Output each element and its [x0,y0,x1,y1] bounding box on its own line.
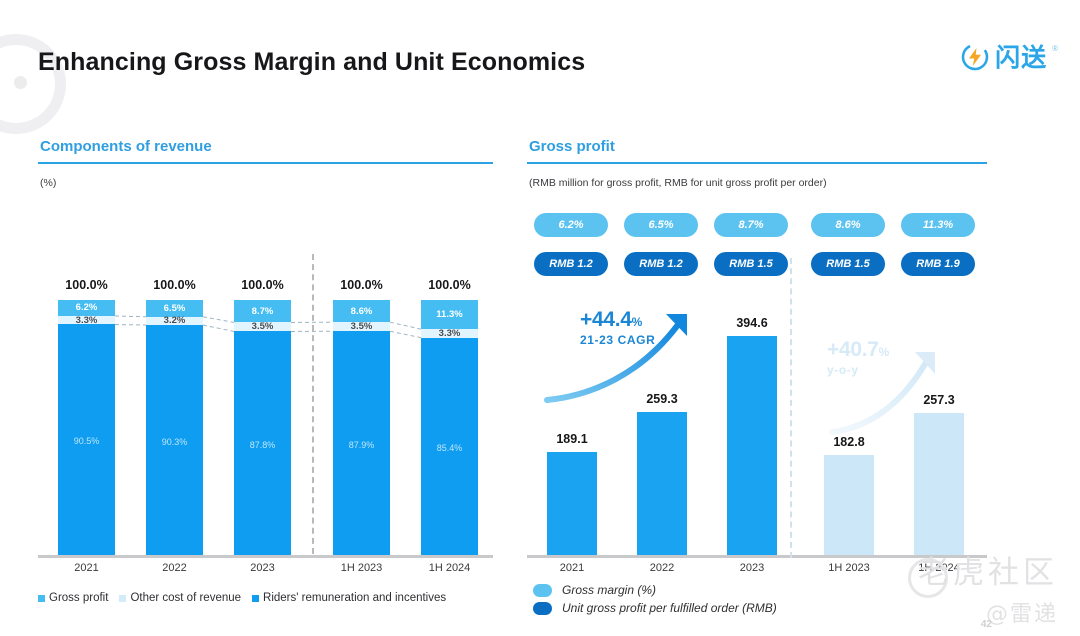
slide: Enhancing Gross Margin and Unit Economic… [0,0,1080,636]
x-axis-tick-label: 1H 2023 [828,562,870,574]
watermark-secondary: @雷递 [986,596,1058,628]
bar-segment-gross-profit: 8.7% [234,300,291,322]
stacked-bar: 100.0%8.7%3.5%87.8% [234,300,291,558]
segment-value-label: 11.3% [436,309,462,320]
bar-segment-riders-remuneration: 90.3% [146,325,203,558]
watermark-primary: 老虎社区 [918,547,1058,592]
x-axis-line [38,555,493,558]
gross-margin-pill: 6.5% [624,213,698,237]
logo-wordmark: 闪送 [995,45,1047,70]
gross-margin-pill: 8.6% [811,213,885,237]
bar-value-label: 257.3 [923,393,954,407]
bar-segment-other-cost-of-revenue: 3.2% [146,317,203,325]
stacked-bar: 100.0%6.5%3.2%90.3% [146,300,203,558]
bar-segment-gross-profit: 11.3% [421,300,478,329]
legend-label: Other cost of revenue [130,592,241,604]
x-axis-tick-label: 2022 [650,562,674,574]
stacked-bar: 100.0%11.3%3.3%85.4% [421,300,478,558]
page-title: Enhancing Gross Margin and Unit Economic… [38,48,585,77]
legend-swatch [252,595,259,602]
right-panel-unit-note: (RMB million for gross profit, RMB for u… [529,177,987,189]
right-chart-legend: Gross margin (%)Unit gross profit per fu… [533,583,777,619]
period-divider [312,254,314,554]
segment-value-label: 6.5% [164,303,186,314]
unit-gross-profit-pill: RMB 1.9 [901,252,975,276]
yoy-caption: y-o-y [827,363,889,377]
gross-margin-pill: 11.3% [901,213,975,237]
bar-segment-other-cost-of-revenue: 3.5% [234,322,291,331]
gross-margin-pill: 6.2% [534,213,608,237]
gross-profit-bar: 257.3 [914,413,964,558]
bar-segment-riders-remuneration: 85.4% [421,338,478,558]
bar-segment-riders-remuneration: 90.5% [58,324,115,557]
bar-segment-other-cost-of-revenue: 3.3% [58,316,115,325]
unit-gross-profit-pill: RMB 1.5 [714,252,788,276]
segment-value-label: 6.2% [76,302,98,313]
bar-value-label: 394.6 [736,316,767,330]
bar-segment-other-cost-of-revenue: 3.3% [421,329,478,338]
legend-label: Gross profit [49,592,108,604]
period-divider [790,258,792,558]
bar-segment-gross-profit: 6.2% [58,300,115,316]
gross-profit-bar: 394.6 [727,336,777,558]
x-axis-tick-label: 2023 [740,562,764,574]
legend-swatch [38,595,45,602]
bar-value-label: 189.1 [556,432,587,446]
bar-segment-gross-profit: 6.5% [146,300,203,317]
gross-margin-pill: 8.7% [714,213,788,237]
cagr-percent: % [632,315,643,329]
stacked-bar: 100.0%8.6%3.5%87.9% [333,300,390,558]
registered-mark: ® [1052,44,1058,53]
left-chart-legend: Gross profitOther cost of revenueRiders'… [38,592,446,604]
legend-item: Unit gross profit per fulfilled order (R… [533,601,777,615]
cagr-caption: 21-23 CAGR [580,333,655,347]
left-panel-unit-note: (%) [40,177,493,189]
right-panel-heading: Gross profit [529,138,987,155]
legend-swatch [533,584,552,597]
bar-value-label: 182.8 [833,435,864,449]
legend-label: Riders' remuneration and incentives [263,592,446,604]
legend-label: Unit gross profit per fulfilled order (R… [562,601,777,615]
stack-total-label: 100.0% [153,278,195,292]
legend-label: Gross margin (%) [562,583,656,597]
page-number: 42 [981,619,992,630]
gross-profit-chart: +44.4% 21-23 CAGR +40.7% y-o-y 189.1259.… [527,300,987,558]
legend-item: Gross profit [38,592,108,604]
gross-profit-bar: 182.8 [824,455,874,558]
bar-segment-riders-remuneration: 87.8% [234,331,291,558]
components-of-revenue-panel: Components of revenue (%) [38,138,493,189]
lightning-bolt-circle-icon [960,42,990,72]
segment-value-label: 90.5% [74,436,100,446]
x-axis-tick-label: 2021 [560,562,584,574]
segment-value-label: 87.8% [250,440,276,450]
yoy-value: +40.7 [827,338,879,361]
legend-item: Other cost of revenue [119,592,241,604]
company-logo: 闪送 ® [960,42,1058,72]
unit-gross-profit-pill: RMB 1.2 [534,252,608,276]
bar-segment-riders-remuneration: 87.9% [333,331,390,558]
cagr-value: +44.4 [580,308,632,331]
components-of-revenue-chart: 100.0%6.2%3.3%90.5%100.0%6.5%3.2%90.3%10… [38,258,493,558]
legend-item: Riders' remuneration and incentives [252,592,446,604]
x-axis-tick-label: 2022 [162,562,186,574]
unit-gross-profit-pill: RMB 1.5 [811,252,885,276]
x-axis-tick-label: 1H 2023 [341,562,383,574]
segment-value-label: 8.6% [351,306,373,317]
segment-value-label: 85.4% [437,443,463,453]
stack-total-label: 100.0% [65,278,107,292]
right-panel-rule [527,162,987,164]
bar-segment-other-cost-of-revenue: 3.5% [333,322,390,331]
x-axis-tick-label: 1H 2024 [429,562,471,574]
yoy-percent: % [879,345,890,359]
gross-profit-bar: 259.3 [637,412,687,558]
x-axis-tick-label: 2023 [250,562,274,574]
decorative-dot [14,76,27,89]
gross-profit-panel: Gross profit (RMB million for gross prof… [527,138,987,189]
bar-value-label: 259.3 [646,392,677,406]
left-panel-heading: Components of revenue [40,138,493,155]
segment-value-label: 90.3% [162,437,188,447]
x-axis-tick-label: 2021 [74,562,98,574]
legend-item: Gross margin (%) [533,583,777,597]
segment-value-label: 87.9% [349,440,375,450]
left-chart-x-axis-labels: 2021202220231H 20231H 2024 [38,562,493,580]
yoy-annotation: +40.7% y-o-y [827,338,889,377]
stacked-bar: 100.0%6.2%3.3%90.5% [58,300,115,558]
cagr-annotation: +44.4% 21-23 CAGR [580,308,655,347]
left-panel-rule [38,162,493,164]
legend-swatch [533,602,552,615]
gross-profit-bar: 189.1 [547,452,597,558]
segment-value-label: 8.7% [252,306,274,317]
legend-swatch [119,595,126,602]
stack-total-label: 100.0% [241,278,283,292]
stack-total-label: 100.0% [428,278,470,292]
unit-gross-profit-pill: RMB 1.2 [624,252,698,276]
bar-segment-gross-profit: 8.6% [333,300,390,322]
stack-total-label: 100.0% [340,278,382,292]
